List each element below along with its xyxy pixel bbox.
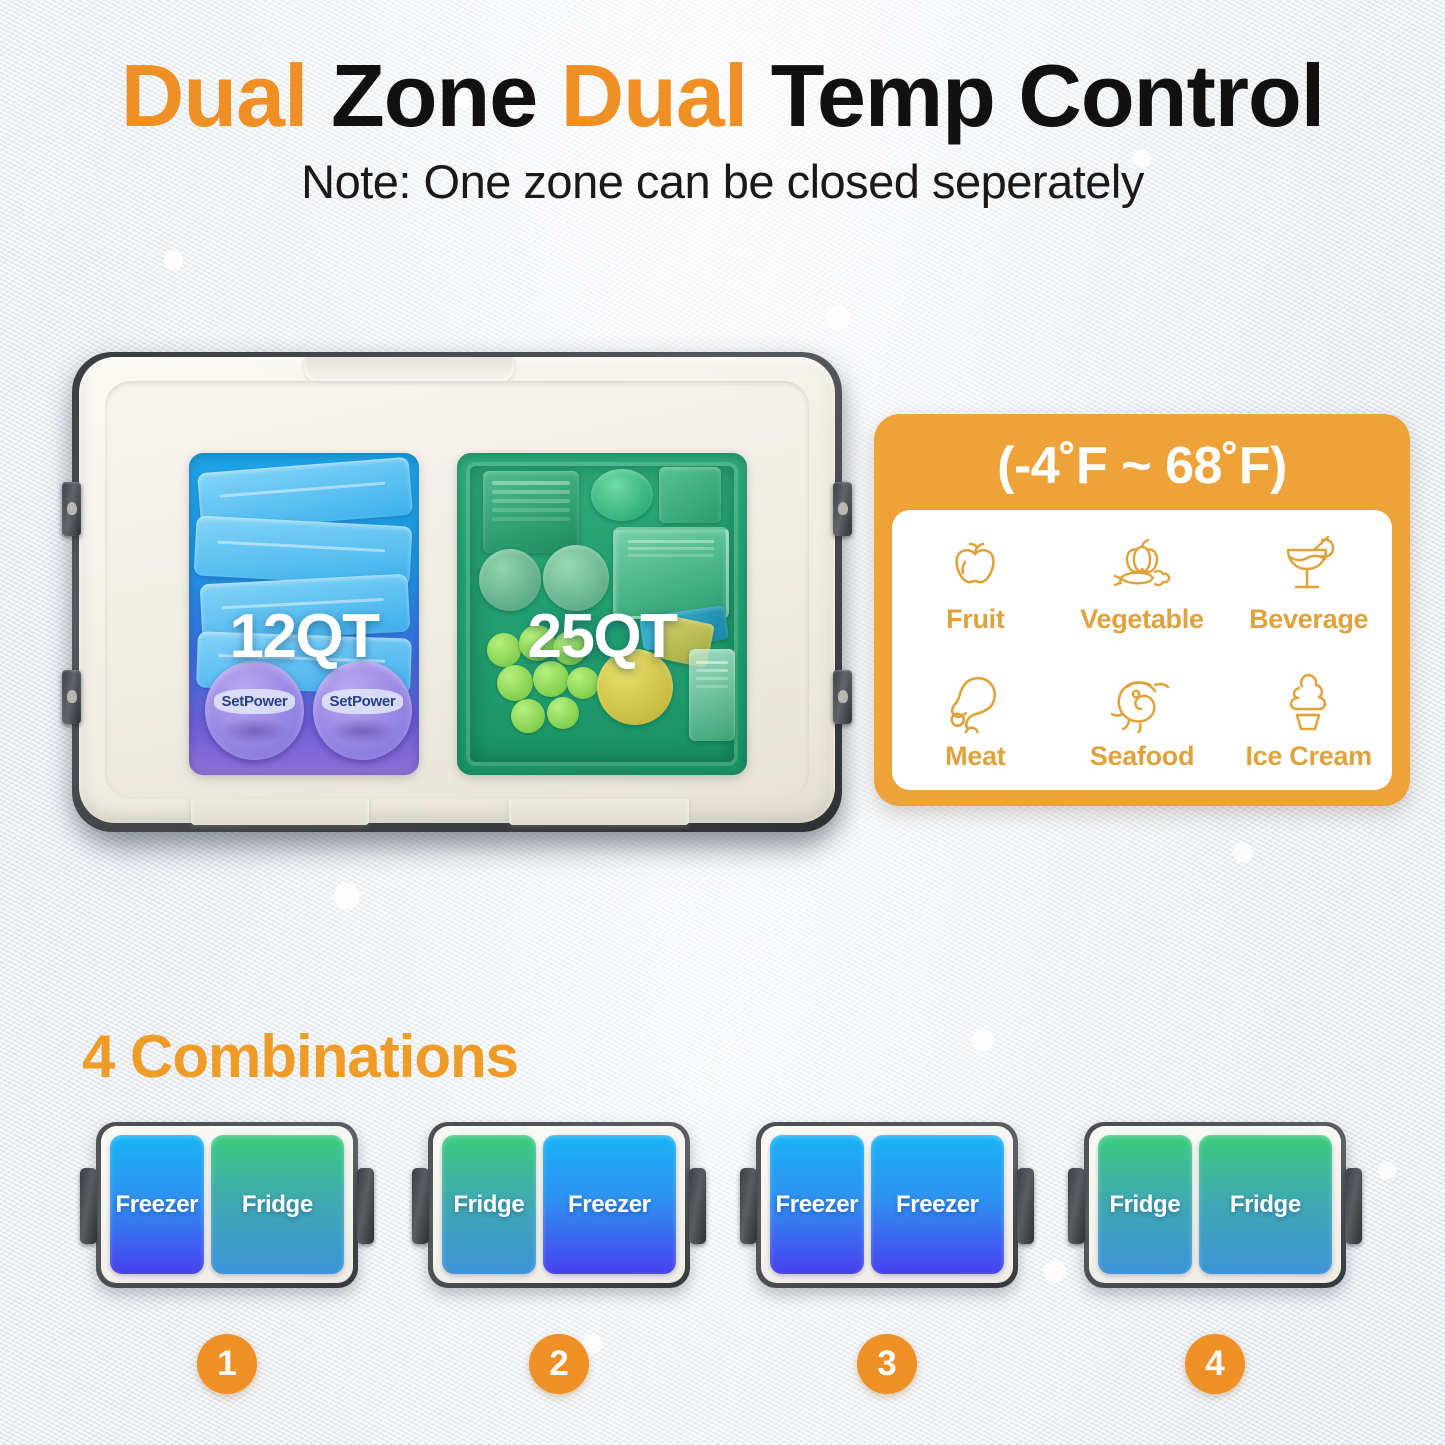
setpower-tub-label: SetPower <box>214 689 296 714</box>
combination-option-4[interactable]: Fridge Fridge <box>1084 1122 1346 1288</box>
handle-ear-right <box>1345 1168 1362 1244</box>
temperature-range-panel: (-4˚F ~ 68˚F) Fruit <box>874 414 1410 806</box>
combination-option-3[interactable]: Freezer Freezer <box>756 1122 1018 1288</box>
combination-face: Fridge Freezer <box>433 1126 685 1283</box>
handle-ear-left <box>80 1168 97 1244</box>
zone-left[interactable]: Fridge <box>1098 1135 1192 1274</box>
handle-ear-left <box>1068 1168 1085 1244</box>
combination-shell: Fridge Fridge <box>1084 1122 1346 1288</box>
combination-face: Freezer Fridge <box>101 1126 353 1283</box>
hinge-right-bottom <box>833 670 852 724</box>
grape <box>511 699 545 733</box>
grape <box>547 697 579 729</box>
zone-right[interactable]: Freezer <box>543 1135 676 1274</box>
zone-left[interactable]: Freezer <box>770 1135 864 1274</box>
zone-label: Fridge <box>1230 1191 1301 1219</box>
compartment-25qt: 25QT <box>457 453 747 775</box>
combination-shell: Fridge Freezer <box>428 1122 690 1288</box>
subtitle-note: Note: One zone can be closed seperately <box>0 154 1445 209</box>
food-category-vegetable: Vegetable <box>1080 534 1203 635</box>
hinge-right-top <box>833 482 852 536</box>
food-category-ice-cream: Ice Cream <box>1245 671 1371 772</box>
handle-ear-right <box>1017 1168 1034 1244</box>
cooler-top-handle-notch <box>304 357 514 383</box>
capacity-label-25qt: 25QT <box>457 601 747 672</box>
zone-label: Freezer <box>568 1191 651 1219</box>
combination-shell: Freezer Freezer <box>756 1122 1018 1288</box>
setpower-tub: SetPower <box>313 661 412 760</box>
zone-label: Fridge <box>453 1191 524 1219</box>
combination-badge-1: 1 <box>197 1334 257 1394</box>
cooler-product-image: SetPower SetPower 12QT <box>72 352 842 852</box>
title-word-zone: Zone <box>331 46 561 145</box>
page-title: Dual Zone Dual Temp Control <box>0 52 1445 140</box>
food-category-beverage: Beverage <box>1249 534 1368 635</box>
combinations-title: 4 Combinations <box>82 1022 518 1091</box>
food-category-meat: Meat <box>944 671 1006 772</box>
zone-right[interactable]: Freezer <box>871 1135 1004 1274</box>
hinge-left-bottom <box>62 670 81 724</box>
zone-left[interactable]: Fridge <box>442 1135 536 1274</box>
handle-ear-right <box>357 1168 374 1244</box>
food-container-lid <box>591 469 653 521</box>
combination-badge-3: 3 <box>857 1334 917 1394</box>
combination-option-1[interactable]: Freezer Fridge <box>96 1122 358 1288</box>
zone-label: Freezer <box>776 1191 859 1219</box>
temperature-range-label: (-4˚F ~ 68˚F) <box>874 436 1410 496</box>
capacity-label-12qt: 12QT <box>189 601 419 672</box>
title-word-temp-control: Temp Control <box>771 46 1324 145</box>
hinge-left-top <box>62 482 81 536</box>
cocktail-glass-icon <box>1276 534 1342 596</box>
zone-label: Fridge <box>1109 1191 1180 1219</box>
title-word-dual-1: Dual <box>121 46 331 145</box>
combination-face: Freezer Freezer <box>761 1126 1013 1283</box>
food-category-label: Ice Cream <box>1245 741 1371 772</box>
food-category-grid: Fruit Vegetable <box>892 510 1392 790</box>
combination-face: Fridge Fridge <box>1089 1126 1341 1283</box>
food-category-label: Vegetable <box>1080 604 1203 635</box>
food-category-fruit: Fruit <box>944 534 1006 635</box>
food-category-label: Seafood <box>1090 741 1194 772</box>
food-category-seafood: Seafood <box>1090 671 1194 772</box>
combination-badge-4: 4 <box>1185 1334 1245 1394</box>
zone-right[interactable]: Fridge <box>211 1135 344 1274</box>
shrimp-icon <box>1109 671 1175 733</box>
setpower-tub: SetPower <box>205 661 304 760</box>
food-can <box>483 471 579 553</box>
handle-ear-left <box>412 1168 429 1244</box>
handle-ear-right <box>689 1168 706 1244</box>
setpower-tub-label: SetPower <box>322 689 404 714</box>
combination-badge-2: 2 <box>529 1334 589 1394</box>
food-category-label: Meat <box>945 741 1005 772</box>
apple-icon <box>944 534 1006 596</box>
combination-option-2[interactable]: Fridge Freezer <box>428 1122 690 1288</box>
zone-left[interactable]: Freezer <box>110 1135 204 1274</box>
zone-label: Freezer <box>896 1191 979 1219</box>
title-word-dual-2: Dual <box>561 46 771 145</box>
cooler-inner-rim: SetPower SetPower 12QT <box>105 381 809 799</box>
cooler-body: SetPower SetPower 12QT <box>79 357 835 823</box>
snack-pack <box>659 467 721 523</box>
cooler-outer-shell: SetPower SetPower 12QT <box>72 352 842 832</box>
drumstick-icon <box>944 671 1006 733</box>
ice-cream-cone-icon <box>1282 671 1336 733</box>
food-category-label: Fruit <box>946 604 1005 635</box>
zone-right[interactable]: Fridge <box>1199 1135 1332 1274</box>
zone-label: Freezer <box>116 1191 199 1219</box>
combination-shell: Freezer Fridge <box>96 1122 358 1288</box>
compartment-12qt: SetPower SetPower 12QT <box>189 453 419 775</box>
food-category-label: Beverage <box>1249 604 1368 635</box>
zone-label: Fridge <box>242 1191 313 1219</box>
handle-ear-left <box>740 1168 757 1244</box>
vegetable-icon <box>1107 534 1177 596</box>
